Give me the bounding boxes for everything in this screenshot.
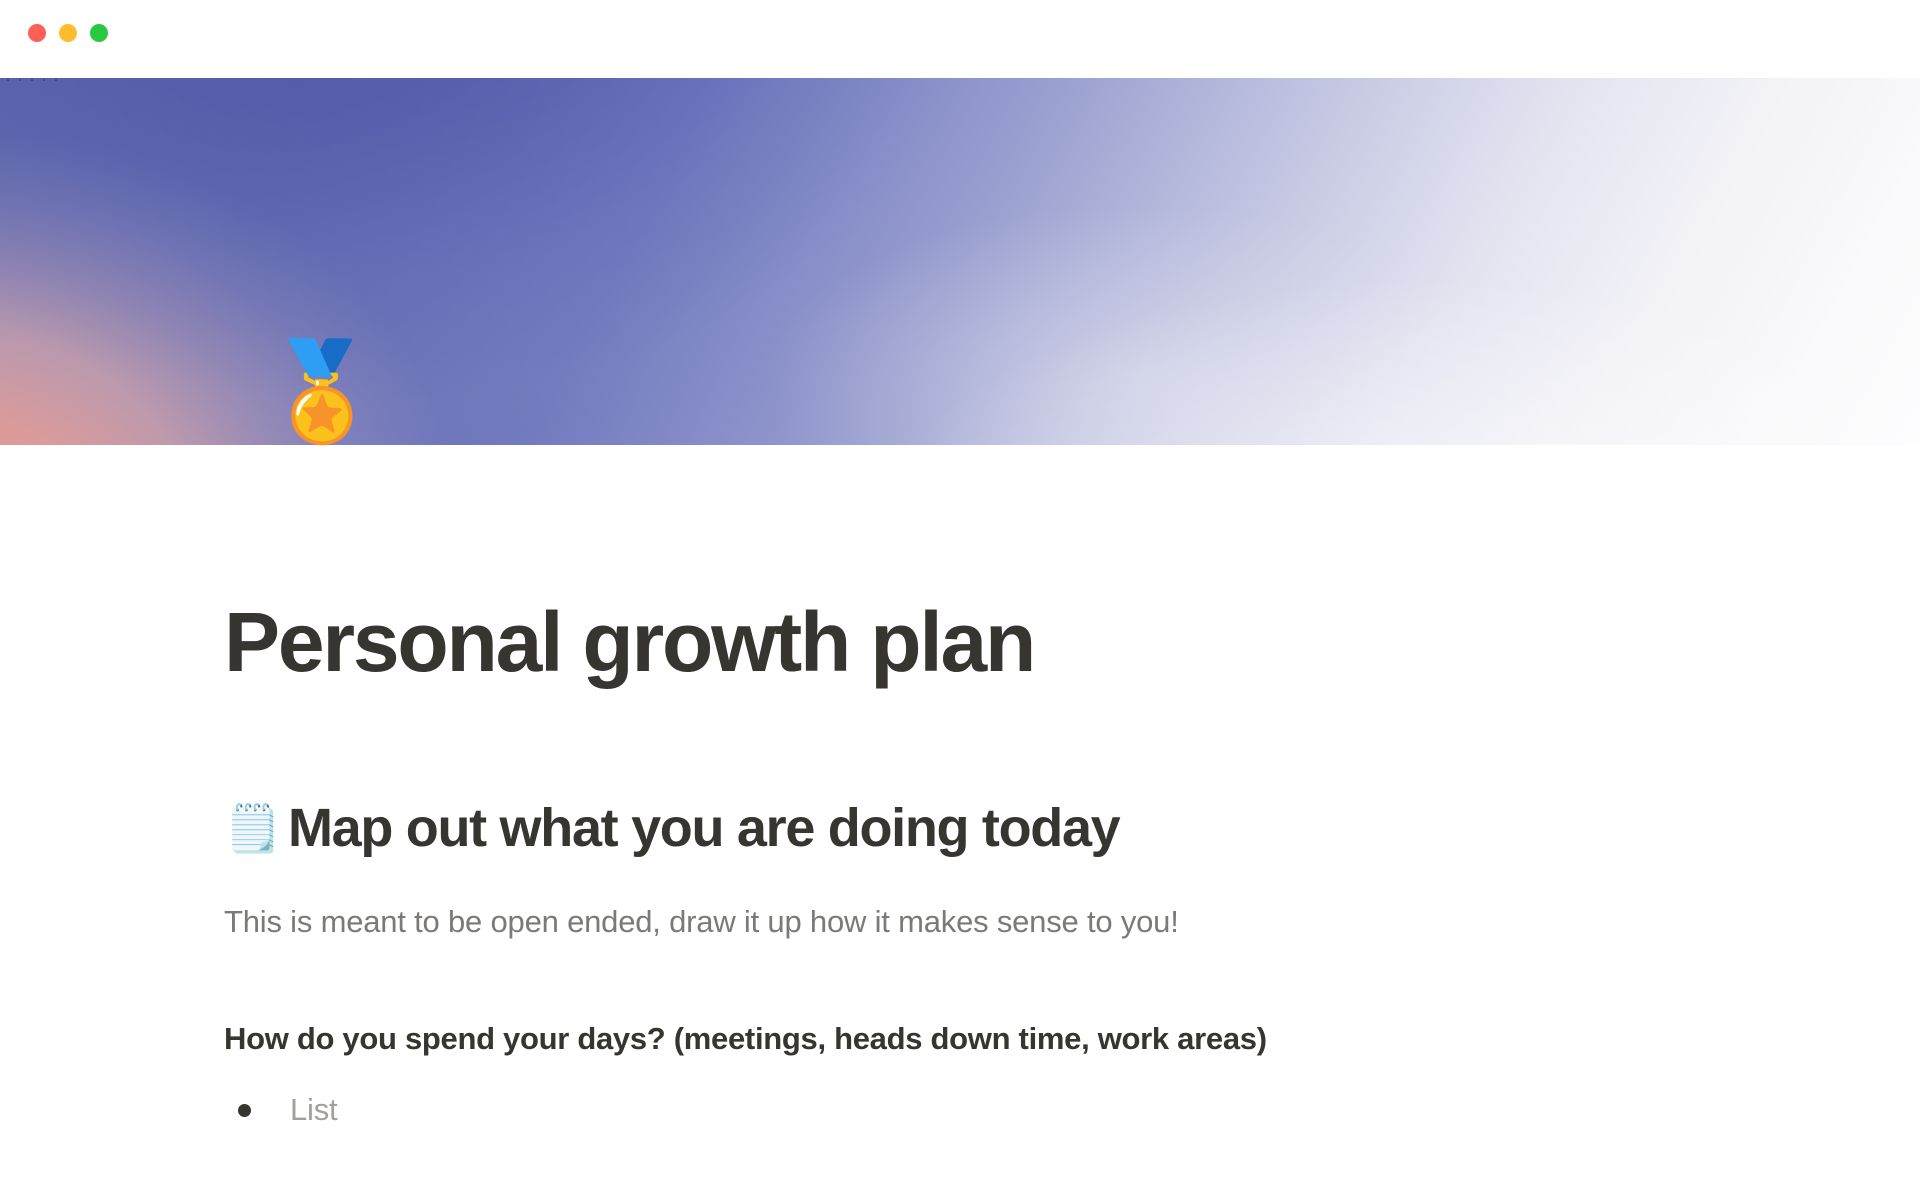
bulleted-list: List bbox=[224, 1088, 1920, 1133]
section-description[interactable]: This is meant to be open ended, draw it … bbox=[224, 900, 1920, 945]
list-item-placeholder[interactable]: List bbox=[290, 1088, 337, 1133]
spiral-notepad-icon: 🗒️ bbox=[224, 805, 272, 851]
page-icon-medal[interactable]: 🏅 bbox=[262, 338, 370, 446]
app-window: 🏅 Personal growth plan 🗒️ Map out what y… bbox=[0, 0, 1920, 1200]
section-heading-text: Map out what you are doing today bbox=[288, 798, 1119, 858]
page-title[interactable]: Personal growth plan bbox=[224, 597, 1920, 688]
window-titlebar bbox=[0, 0, 1920, 78]
document-body: Personal growth plan 🗒️ Map out what you… bbox=[0, 445, 1920, 1133]
minimize-window-button[interactable] bbox=[59, 24, 77, 42]
bullet-dot-icon bbox=[238, 1104, 251, 1117]
window-traffic-lights bbox=[28, 24, 108, 42]
close-window-button[interactable] bbox=[28, 24, 46, 42]
section-heading[interactable]: 🗒️ Map out what you are doing today bbox=[224, 798, 1920, 858]
cover-speck-artifacts bbox=[0, 78, 58, 90]
list-item[interactable]: List bbox=[224, 1088, 1920, 1133]
maximize-window-button[interactable] bbox=[90, 24, 108, 42]
section-question[interactable]: How do you spend your days? (meetings, h… bbox=[224, 1017, 1920, 1062]
